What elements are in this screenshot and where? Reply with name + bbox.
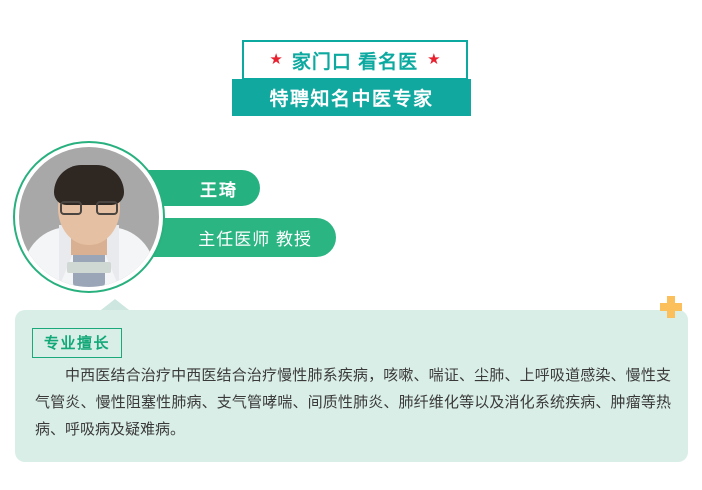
expertise-label: 专业擅长 [32, 328, 122, 358]
portrait-hair-shape [54, 165, 124, 205]
portrait-glasses-shape [60, 201, 118, 216]
doctor-profile: 王琦 主任医师 教授 [0, 135, 702, 300]
avatar-photo [19, 147, 159, 287]
star-icon-right: ★ [427, 52, 440, 67]
plus-icon [660, 296, 682, 318]
expertise-card: 专业擅长 中西医结合治疗中西医结合治疗慢性肺系疾病，咳嗽、喘证、尘肺、上呼吸道感… [15, 310, 688, 462]
star-icon-left: ★ [269, 52, 282, 67]
doctor-title-text: 主任医师 教授 [198, 225, 312, 250]
banner-title-box: ★ 家门口 看名医 ★ [242, 40, 468, 80]
avatar [13, 141, 165, 293]
expertise-body-text: 中西医结合治疗中西医结合治疗慢性肺系疾病，咳嗽、喘证、尘肺、上呼吸道感染、慢性支… [35, 362, 671, 443]
portrait-badge-shape [67, 262, 111, 273]
banner-title-text: 家门口 看名医 [292, 47, 418, 74]
doctor-name-text: 王琦 [200, 176, 238, 201]
header-banner: ★ 家门口 看名医 ★ 特聘知名中医专家 [0, 0, 702, 130]
expertise-pointer-triangle [101, 299, 129, 310]
banner-subtitle-text: 特聘知名中医专家 [269, 84, 433, 111]
banner-subtitle-bar: 特聘知名中医专家 [232, 79, 471, 116]
